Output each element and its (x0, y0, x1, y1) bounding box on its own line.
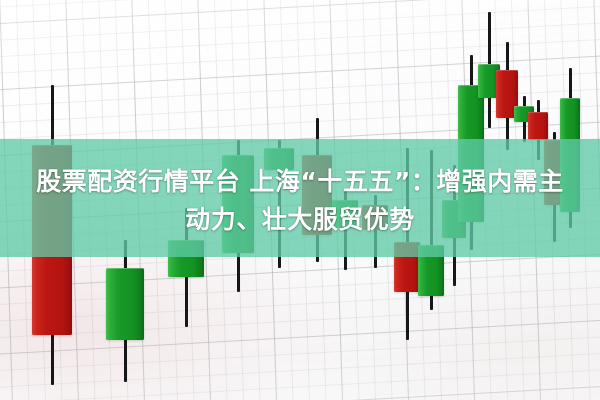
banner-title-line-1: 股票配资行情平台 上海“十五五”：增强内需主 (0, 163, 600, 201)
banner-image: 股票配资行情平台 上海“十五五”：增强内需主 动力、壮大服贸优势 (0, 0, 600, 400)
banner-title-line-2: 动力、壮大服贸优势 (0, 201, 600, 239)
candlestick (106, 240, 144, 382)
banner-title: 股票配资行情平台 上海“十五五”：增强内需主 动力、壮大服贸优势 (0, 163, 600, 239)
candle-body-up (106, 268, 144, 340)
